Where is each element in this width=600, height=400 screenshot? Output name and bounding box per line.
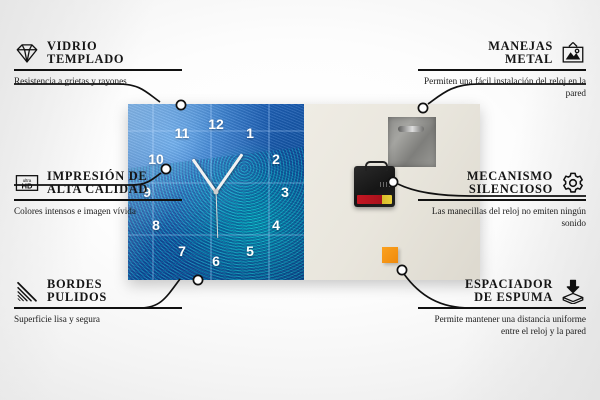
feature-description: Las manecillas del reloj no emiten ningú… xyxy=(418,205,586,229)
svg-text:HD: HD xyxy=(21,181,33,190)
infographic-canvas: 12 1 2 3 4 5 6 7 8 9 10 11 xyxy=(0,0,600,400)
feature-title-line2: PULIDOS xyxy=(47,291,107,304)
clock-numeral: 2 xyxy=(272,152,280,166)
polished-edges-icon xyxy=(14,278,40,304)
battery-compartment xyxy=(357,195,392,204)
clock-numeral: 10 xyxy=(148,152,164,166)
feature-title-line2: ALTA CALIDAD xyxy=(47,183,148,196)
feature-rule xyxy=(418,199,586,201)
mechanism-handle xyxy=(365,161,388,171)
feature-description: Permite mantener una distancia uniforme … xyxy=(418,313,586,337)
mechanism-detail xyxy=(380,182,392,187)
feature-vidrio-templado: VIDRIO TEMPLADO Resistencia a grietas y … xyxy=(14,40,182,87)
feature-title-line2: TEMPLADO xyxy=(47,53,124,66)
feature-mecanismo-silencioso: MECANISMO SILENCIOSO Las manecillas del … xyxy=(418,170,586,229)
diamond-icon xyxy=(14,40,40,66)
foam-spacer-icon xyxy=(560,278,586,304)
ultra-hd-icon: ultra HD xyxy=(14,170,40,196)
feature-impresion-alta-calidad: ultra HD IMPRESIÓN DE ALTA CALIDAD Color… xyxy=(14,170,182,217)
clock-numeral: 6 xyxy=(212,254,220,268)
clock-numeral: 12 xyxy=(208,117,224,131)
gear-icon xyxy=(560,170,586,196)
feature-rule xyxy=(418,307,586,309)
feature-description: Resistencia a grietas y rayones xyxy=(14,75,182,87)
feature-espaciador-espuma: ESPACIADOR DE ESPUMA Permite mantener un… xyxy=(418,278,586,337)
feature-manejas-metal: MANEJAS METAL Permiten una fácil instala… xyxy=(418,40,586,99)
clock-center-pin xyxy=(214,190,219,195)
feature-rule xyxy=(14,69,182,71)
metal-hanger-plate xyxy=(388,117,436,167)
clock-numeral: 8 xyxy=(152,218,160,232)
foam-spacer-pad xyxy=(382,247,398,263)
feature-title-line2: SILENCIOSO xyxy=(467,183,553,196)
feature-description: Superficie lisa y segura xyxy=(14,313,182,325)
clock-numeral: 1 xyxy=(246,126,254,140)
feature-bordes-pulidos: BORDES PULIDOS Superficie lisa y segura xyxy=(14,278,182,325)
clock-numeral: 7 xyxy=(178,244,186,258)
feature-rule xyxy=(14,307,182,309)
picture-frame-icon xyxy=(560,40,586,66)
hanger-slot xyxy=(398,126,424,132)
clock-numeral: 4 xyxy=(272,218,280,232)
feature-rule xyxy=(418,69,586,71)
clock-numeral: 3 xyxy=(281,185,289,199)
clock-mechanism xyxy=(354,166,395,207)
feature-title-line2: DE ESPUMA xyxy=(465,291,553,304)
feature-description: Permiten una fácil instalación del reloj… xyxy=(418,75,586,99)
clock-numeral: 11 xyxy=(175,126,190,140)
feature-title-line2: METAL xyxy=(488,53,553,66)
feature-description: Colores intensos e imagen vívida xyxy=(14,205,182,217)
feature-rule xyxy=(14,199,182,201)
clock-numeral: 5 xyxy=(246,244,254,258)
